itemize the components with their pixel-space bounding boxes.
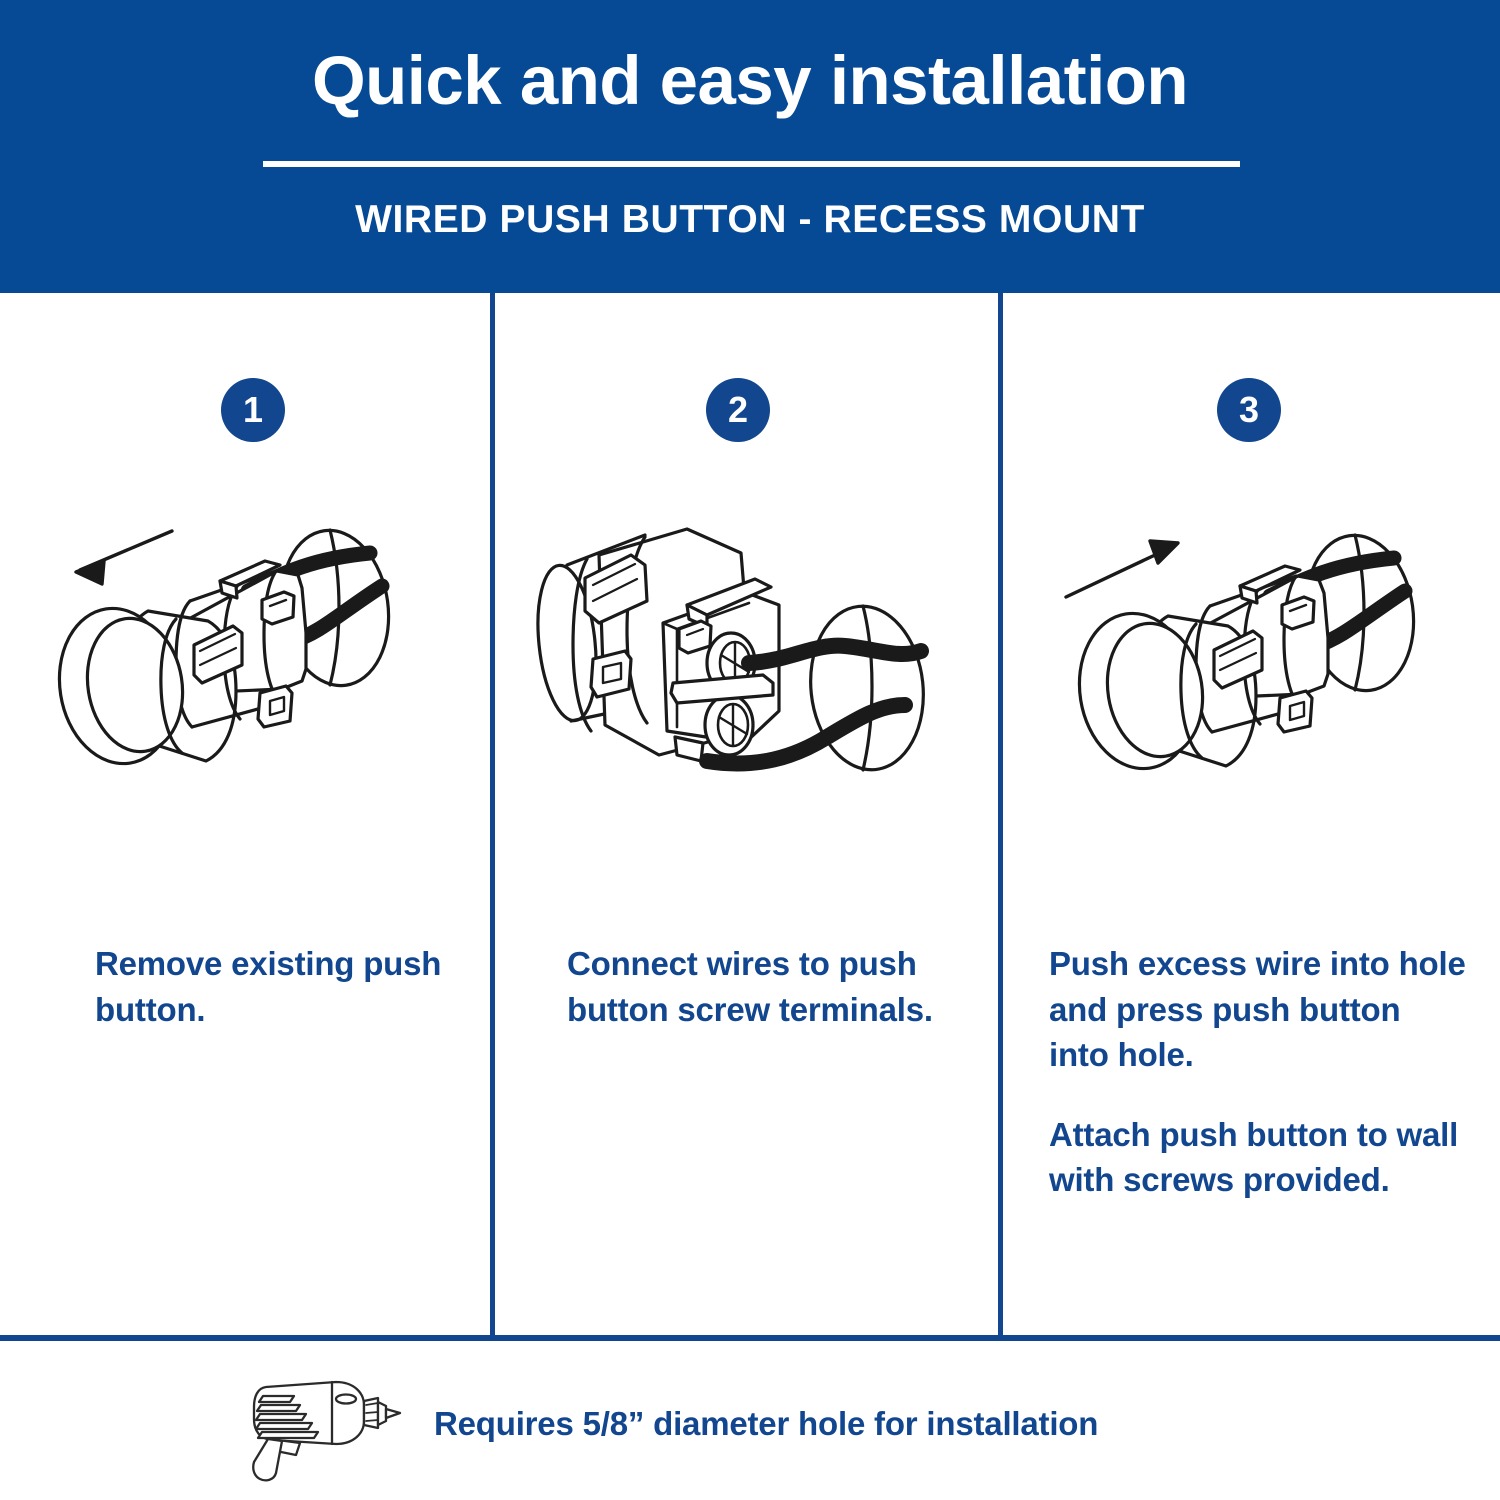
power-drill-icon bbox=[232, 1369, 402, 1489]
latch-window bbox=[262, 592, 294, 624]
keyhole-slot bbox=[258, 686, 292, 727]
step-caption-3: Push excess wire into hole and press pus… bbox=[1049, 941, 1469, 1203]
step-caption-1: Remove existing push button. bbox=[95, 941, 455, 1032]
direction-arrow-right bbox=[1066, 541, 1178, 597]
step-caption-line: Push excess wire into hole and press pus… bbox=[1049, 941, 1469, 1078]
keyhole-slot bbox=[1278, 691, 1312, 732]
latch-window bbox=[679, 621, 711, 653]
push-button-insertion-diagram bbox=[1003, 493, 1500, 833]
latch-window bbox=[1282, 597, 1314, 629]
push-button-wiring-diagram bbox=[495, 493, 998, 833]
step-caption-line: Attach push button to wall with screws p… bbox=[1049, 1112, 1469, 1203]
step-number-badge-1: 1 bbox=[221, 378, 285, 442]
step-column-2: 2 bbox=[495, 293, 998, 1335]
footer-bar: Requires 5/8” diameter hole for installa… bbox=[0, 1341, 1500, 1500]
step-number-badge-3: 3 bbox=[1217, 378, 1281, 442]
step-column-1: 1 bbox=[0, 293, 490, 1335]
page-subtitle: WIRED PUSH BUTTON - RECESS MOUNT bbox=[0, 198, 1500, 242]
direction-arrow-left bbox=[76, 531, 172, 584]
step-caption-2: Connect wires to push button screw termi… bbox=[567, 941, 957, 1032]
bottom-tab bbox=[675, 737, 703, 761]
installation-requirement-note: Requires 5/8” diameter hole for installa… bbox=[434, 1405, 1098, 1443]
header-banner: Quick and easy installation WIRED PUSH B… bbox=[0, 0, 1500, 293]
step-number-badge-2: 2 bbox=[706, 378, 770, 442]
step-caption-line: Remove existing push button. bbox=[95, 941, 455, 1032]
header-divider-rule bbox=[263, 161, 1240, 167]
page-title: Quick and easy installation bbox=[0, 46, 1500, 115]
push-button-removal-diagram bbox=[0, 493, 490, 833]
step-caption-line: Connect wires to push button screw termi… bbox=[567, 941, 957, 1032]
screw-terminal-lower bbox=[705, 695, 753, 755]
step-column-3: 3 bbox=[1003, 293, 1500, 1335]
keyhole-slot bbox=[591, 651, 631, 697]
